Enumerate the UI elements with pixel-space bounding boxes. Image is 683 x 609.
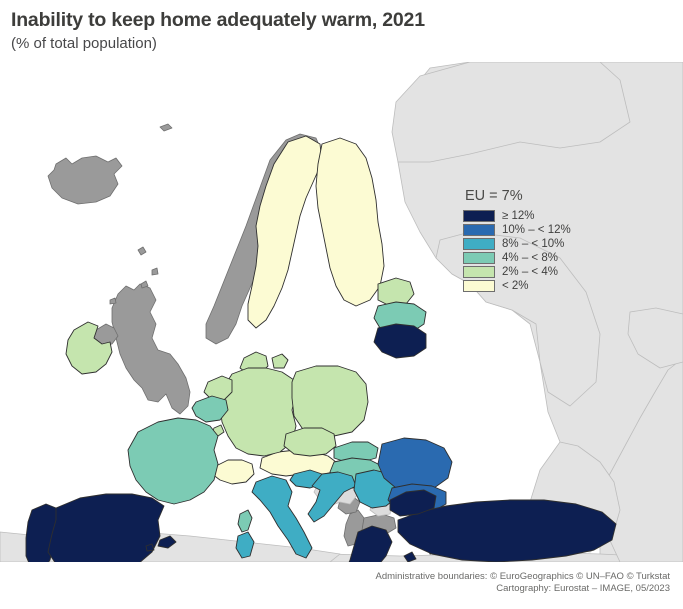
map-attribution: Administrative boundaries: © EuroGeograp… [375,571,670,595]
legend-swatch-over-12 [463,210,495,222]
legend-item[interactable]: 8% – < 10% [463,237,581,251]
legend-item[interactable]: 10% – < 12% [463,223,581,237]
legend-swatch-8-10 [463,238,495,250]
attribution-line-cartography: Cartography: Eurostat – IMAGE, 05/2023 [375,583,670,595]
country-czechia [284,428,336,456]
map-canvas[interactable]: .ld{stroke:#2f2f2f;stroke-width:0.9;stro… [0,62,683,562]
legend-eu-value: EU = 7% [465,188,581,204]
legend-item[interactable]: 2% – < 4% [463,265,581,279]
country-spain [48,494,164,562]
legend-item[interactable]: 4% – < 8% [463,251,581,265]
page-subtitle: (% of total population) [11,35,157,52]
legend-item[interactable]: < 2% [463,279,581,293]
legend-swatch-2-4 [463,266,495,278]
legend-label-under-2: < 2% [502,280,529,292]
legend-swatch-4-8 [463,252,495,264]
country-poland [292,366,368,436]
legend-label-over-12: ≥ 12% [502,210,535,222]
legend-label-10-12: 10% – < 12% [502,224,571,236]
legend-label-8-10: 8% – < 10% [502,238,564,250]
legend-swatch-10-12 [463,224,495,236]
map-legend: EU = 7% ≥ 12% 10% – < 12% 8% – < 10% 4% … [463,188,581,293]
attribution-line-boundaries: Administrative boundaries: © EuroGeograp… [375,571,670,583]
legend-item[interactable]: ≥ 12% [463,209,581,223]
legend-label-2-4: 2% – < 4% [502,266,558,278]
choropleth-map-figure: Inability to keep home adequately warm, … [0,0,683,609]
page-title: Inability to keep home adequately warm, … [11,9,425,32]
europe-map-svg[interactable]: .ld{stroke:#2f2f2f;stroke-width:0.9;stro… [0,62,683,562]
legend-swatch-under-2 [463,280,495,292]
legend-label-4-8: 4% – < 8% [502,252,558,264]
